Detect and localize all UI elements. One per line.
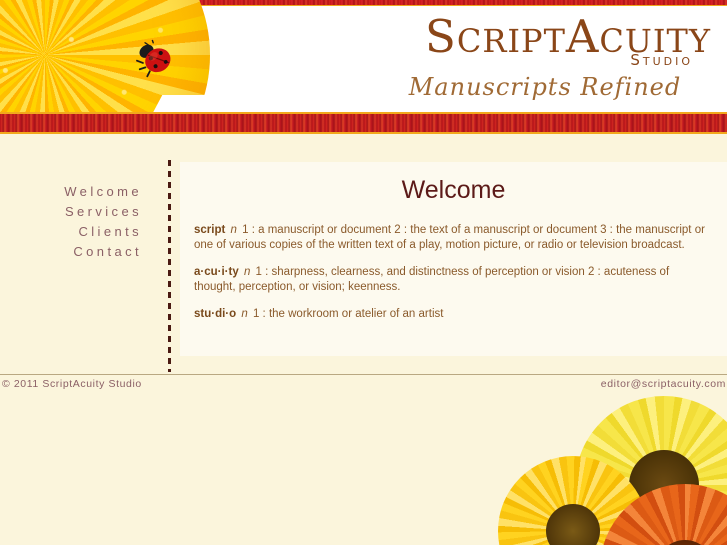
- nav-item-welcome[interactable]: Welcome: [0, 182, 142, 202]
- definition-part-of-speech: n: [239, 308, 249, 320]
- definition-body: 1 : a manuscript or document 2 : the tex…: [194, 224, 705, 251]
- definition-body: 1 : the workroom or atelier of an artist: [253, 308, 443, 320]
- logo-tagline: Manuscripts Refined: [355, 73, 715, 101]
- page-root: ScriptAcuity Studio Manuscripts Refined …: [0, 0, 727, 545]
- nav-item-services[interactable]: Services: [0, 202, 142, 222]
- definition-body: 1 : sharpness, clearness, and distinctne…: [194, 266, 669, 293]
- definition-part-of-speech: n: [242, 266, 252, 278]
- contact-email-link[interactable]: editor@scriptacuity.com: [601, 378, 726, 390]
- footer-flower-artwork: [0, 394, 727, 545]
- definition-term: a·cu·i·ty: [194, 266, 239, 278]
- content-panel: Welcome script n 1 : a manuscript or doc…: [180, 162, 727, 356]
- definition-part-of-speech: n: [229, 224, 239, 236]
- header-bottom-band: [0, 112, 727, 134]
- site-footer: © 2011 ScriptAcuity Studio editor@script…: [0, 374, 727, 394]
- definition-studio: stu·di·o n 1 : the workroom or atelier o…: [194, 307, 713, 322]
- site-logo[interactable]: ScriptAcuity Studio Manuscripts Refined: [355, 14, 715, 101]
- site-header: ScriptAcuity Studio Manuscripts Refined: [0, 0, 727, 134]
- nav-item-clients[interactable]: Clients: [0, 222, 142, 242]
- nav-item-contact[interactable]: Contact: [0, 242, 142, 262]
- definition-term: stu·di·o: [194, 308, 236, 320]
- page-title: Welcome: [194, 176, 713, 205]
- main-navigation: Welcome Services Clients Contact: [0, 182, 142, 262]
- definition-acuity: a·cu·i·ty n 1 : sharpness, clearness, an…: [194, 265, 713, 295]
- dashed-divider: [168, 160, 171, 372]
- copyright-text: © 2011 ScriptAcuity Studio: [2, 378, 142, 390]
- definition-script: script n 1 : a manuscript or document 2 …: [194, 223, 713, 253]
- flower-center: [656, 540, 714, 545]
- flower-center: [546, 504, 600, 545]
- body-area: Welcome Services Clients Contact Welcome…: [0, 134, 727, 374]
- definition-term: script: [194, 224, 225, 236]
